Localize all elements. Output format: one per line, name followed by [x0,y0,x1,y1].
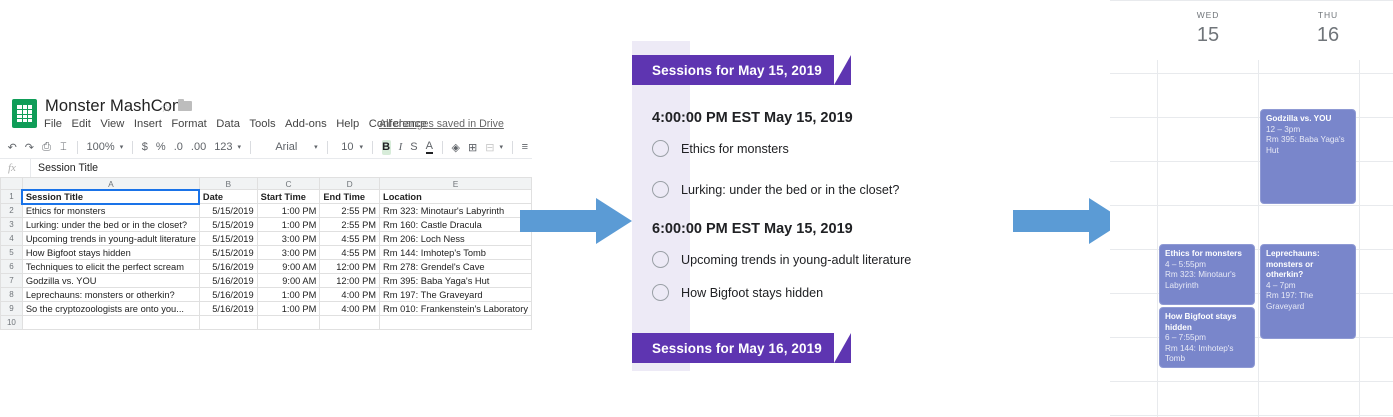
cell[interactable]: 4:55 PM [320,246,380,260]
print-icon[interactable]: ⎙ [42,140,51,155]
cell[interactable]: Techniques to elicit the perfect scream [22,260,199,274]
calendar-day-headers: WED 15 THU 16 [1110,0,1393,60]
time-slot-label-1: 4:00:00 PM EST May 15, 2019 [652,110,853,126]
event-time: 4 – 7pm [1266,281,1350,292]
cell[interactable]: Lurking: under the bed or in the closet? [22,218,199,232]
calendar-event-godzilla[interactable]: Godzilla vs. YOU 12 – 3pm Rm 395: Baba Y… [1260,109,1356,204]
ribbon-tail [834,333,851,363]
cell[interactable]: 9:00 AM [257,274,320,288]
radio-icon[interactable] [652,140,669,157]
event-time: 6 – 7:55pm [1165,333,1249,344]
menu-item-help[interactable]: Help [336,118,359,130]
section-ribbon-may-16: Sessions for May 16, 2019 [632,333,834,363]
row-number[interactable]: 1 [1,190,23,204]
formula-divider [30,159,31,178]
cell[interactable]: 4:00 PM [320,302,380,316]
cell[interactable]: 1:00 PM [257,204,320,218]
event-location: Rm 197: The Graveyard [1266,291,1350,312]
cell[interactable]: 2:55 PM [320,204,380,218]
radio-icon[interactable] [652,284,669,301]
row-number[interactable]: 5 [1,246,23,260]
cell[interactable] [257,316,320,330]
more-formats[interactable]: 123 [214,141,232,153]
row-number[interactable]: 4 [1,232,23,246]
cell[interactable]: Godzilla vs. YOU [22,274,199,288]
cell[interactable]: Rm 144: Imhotep's Tomb [380,246,532,260]
spreadsheet-grid[interactable]: A B C D E 1Session TitleDateStart TimeEn… [0,177,532,330]
formula-input[interactable]: Session Title [38,162,98,174]
cell[interactable]: 1:00 PM [257,288,320,302]
cell[interactable] [22,316,199,330]
menu-item-tools[interactable]: Tools [249,118,275,130]
font-caret-icon[interactable]: ▾ [314,143,318,151]
cell[interactable]: 12:00 PM [320,260,380,274]
cell[interactable]: Rm 395: Baba Yaga's Hut [380,274,532,288]
toolbar-divider [372,141,373,154]
ribbon-tail [834,55,851,85]
row-number[interactable]: 8 [1,288,23,302]
sheets-toolbar: ↶ ↷ ⎙ ⌶ 100% ▾ $ % .0 .00 123 ▾ Arial ▾ … [0,136,532,158]
corner-cell[interactable] [1,178,23,190]
cell[interactable]: Rm 278: Grendel's Cave [380,260,532,274]
cell[interactable]: 5/16/2019 [199,288,257,302]
session-option-label: How Bigfoot stays hidden [681,286,823,300]
font-size-select[interactable]: 10 [336,141,354,153]
undo-icon[interactable]: ↶ [8,140,17,155]
redo-icon[interactable]: ↷ [25,140,34,155]
font-size-caret-icon[interactable]: ▾ [360,143,364,151]
cell[interactable]: Date [199,190,257,204]
toolbar-divider [442,141,443,154]
table-row[interactable]: 10 [1,316,532,330]
arrow-sheets-to-form [520,198,632,244]
form-preview-panel: Sessions for May 15, 2019 4:00:00 PM EST… [632,41,962,371]
column-header-e[interactable]: E [380,178,532,190]
cell[interactable]: End Time [320,190,380,204]
radio-icon[interactable] [652,181,669,198]
calendar-event-leprechauns[interactable]: Leprechauns: monsters or otherkin? 4 – 7… [1260,244,1356,339]
zoom-level[interactable]: 100% [87,141,115,153]
event-title: Leprechauns: monsters or otherkin? [1266,249,1350,281]
day-header-thu[interactable]: THU 16 [1278,10,1378,47]
calendar-panel: WED 15 THU 16 Godzilla vs. YOU 12 – 3pm … [1110,0,1393,417]
formula-bar: fx Session Title [0,158,532,179]
save-status-link[interactable]: All changes saved in Drive [379,118,504,130]
cell[interactable]: 12:00 PM [320,274,380,288]
session-option-3[interactable]: Upcoming trends in young-adult literatur… [652,251,911,268]
cell[interactable]: Rm 206: Loch Ness [380,232,532,246]
italic-icon[interactable]: I [399,141,403,153]
column-header-d[interactable]: D [320,178,380,190]
cell[interactable]: 5/15/2019 [199,232,257,246]
currency-icon[interactable]: $ [142,141,148,153]
toolbar-divider [77,141,78,154]
session-option-1[interactable]: Ethics for monsters [652,140,789,157]
event-time: 4 – 5:55pm [1165,260,1249,271]
table-row[interactable]: 8Leprechauns: monsters or otherkin?5/16/… [1,288,532,302]
column-header-c[interactable]: C [257,178,320,190]
cell[interactable]: 5/15/2019 [199,204,257,218]
day-number-label: 15 [1158,24,1258,47]
google-sheets-panel: Monster MashCon ☆ File Edit View Insert … [0,95,532,320]
row-number[interactable]: 6 [1,260,23,274]
event-title: How Bigfoot stays hidden [1165,312,1249,333]
toolbar-divider [250,141,251,154]
ribbon-label: Sessions for May 16, 2019 [632,341,822,356]
table-row[interactable]: 1Session TitleDateStart TimeEnd TimeLoca… [1,190,532,204]
paint-format-icon[interactable]: ⌶ [59,140,68,155]
sheets-icon [12,99,37,128]
cell[interactable]: Rm 010: Frankenstein's Laboratory [380,302,532,316]
merge-caret-icon[interactable]: ▾ [499,143,503,151]
zoom-caret-icon[interactable]: ▾ [120,143,124,151]
font-family-select[interactable]: Arial [260,141,309,153]
increase-decimal-icon[interactable]: .00 [191,141,206,153]
decrease-decimal-icon[interactable]: .0 [174,141,183,153]
cell[interactable]: Start Time [257,190,320,204]
menu-item-view[interactable]: View [100,118,124,130]
session-option-4[interactable]: How Bigfoot stays hidden [652,284,823,301]
table-row[interactable]: 5How Bigfoot stays hidden5/15/20193:00 P… [1,246,532,260]
form-background-band [632,41,690,371]
menu-item-format[interactable]: Format [171,118,206,130]
percent-icon[interactable]: % [156,141,166,153]
cell[interactable]: 3:00 PM [257,232,320,246]
cell[interactable]: Upcoming trends in young-adult literatur… [22,232,199,246]
cell[interactable]: 4:00 PM [320,288,380,302]
cell[interactable]: 5/16/2019 [199,302,257,316]
cell[interactable]: Session Title [22,190,199,204]
cell[interactable] [380,316,532,330]
strikethrough-icon[interactable]: S [410,141,417,153]
day-of-week-label: THU [1278,10,1378,20]
session-option-label: Upcoming trends in young-adult literatur… [681,253,911,267]
fill-color-icon[interactable]: ◈ [452,141,460,154]
form-card [690,41,962,371]
menu-item-file[interactable]: File [44,118,62,130]
formats-caret-icon[interactable]: ▾ [238,143,242,151]
column-header-a[interactable]: A [22,178,199,190]
cell[interactable]: 5/16/2019 [199,260,257,274]
event-location: Rm 144: Imhotep's Tomb [1165,344,1249,365]
fx-icon: fx [8,162,16,174]
arrow-form-to-calendar [1013,198,1125,244]
cell[interactable]: 5/16/2019 [199,274,257,288]
table-row[interactable]: 2Ethics for monsters5/15/20191:00 PM2:55… [1,204,532,218]
event-time: 12 – 3pm [1266,125,1350,136]
cell[interactable] [199,316,257,330]
cell[interactable]: 5/15/2019 [199,218,257,232]
ribbon-label: Sessions for May 15, 2019 [632,63,822,78]
cell[interactable]: Rm 160: Castle Dracula [380,218,532,232]
column-header-b[interactable]: B [199,178,257,190]
calendar-grid[interactable]: Godzilla vs. YOU 12 – 3pm Rm 395: Baba Y… [1110,60,1393,417]
cell[interactable]: Leprechauns: monsters or otherkin? [22,288,199,302]
menu-item-data[interactable]: Data [216,118,240,130]
table-row[interactable]: 4Upcoming trends in young-adult literatu… [1,232,532,246]
bold-icon[interactable]: B [382,140,391,155]
toolbar-divider [327,141,328,154]
row-number[interactable]: 2 [1,204,23,218]
cell[interactable]: So the cryptozoologists are onto you... [22,302,199,316]
folder-icon[interactable] [178,101,192,111]
radio-icon[interactable] [652,251,669,268]
session-option-2[interactable]: Lurking: under the bed or in the closet? [652,181,899,198]
sheets-titlebar: Monster MashCon ☆ File Edit View Insert … [0,95,532,135]
toolbar-divider [132,141,133,154]
cell[interactable]: Rm 323: Minotaur's Labyrinth [380,204,532,218]
event-title: Godzilla vs. YOU [1266,114,1350,125]
row-number[interactable]: 10 [1,316,23,330]
table-row[interactable]: 7Godzilla vs. YOU5/16/20199:00 AM12:00 P… [1,274,532,288]
toolbar-divider [512,141,513,154]
cell[interactable] [320,316,380,330]
cell[interactable]: 9:00 AM [257,260,320,274]
calendar-event-ethics[interactable]: Ethics for monsters 4 – 5:55pm Rm 323: M… [1159,244,1255,305]
event-location: Rm 323: Minotaur's Labyrinth [1165,270,1249,291]
session-option-label: Ethics for monsters [681,142,789,156]
star-icon[interactable]: ☆ [160,100,172,116]
text-color-icon[interactable]: A [426,141,433,154]
cell[interactable]: 1:00 PM [257,218,320,232]
row-number[interactable]: 7 [1,274,23,288]
cell[interactable]: 4:55 PM [320,232,380,246]
day-of-week-label: WED [1158,10,1258,20]
menu-item-addons[interactable]: Add-ons [285,118,327,130]
event-title: Ethics for monsters [1165,249,1249,260]
column-header-row: A B C D E [1,178,532,190]
cell[interactable]: 3:00 PM [257,246,320,260]
cell[interactable]: Location [380,190,532,204]
event-location: Rm 395: Baba Yaga's Hut [1266,135,1350,156]
calendar-event-bigfoot[interactable]: How Bigfoot stays hidden 6 – 7:55pm Rm 1… [1159,307,1255,368]
menu-item-edit[interactable]: Edit [72,118,91,130]
menu-bar: File Edit View Insert Format Data Tools … [44,118,427,130]
cell[interactable]: 2:55 PM [320,218,380,232]
session-option-label: Lurking: under the bed or in the closet? [681,183,899,197]
section-ribbon-may-15: Sessions for May 15, 2019 [632,55,834,85]
borders-icon[interactable]: ⊞ [468,141,477,154]
day-number-label: 16 [1278,24,1378,47]
cell[interactable]: Ethics for monsters [22,204,199,218]
merge-cells-icon[interactable]: ⊟ [485,141,494,154]
align-icon[interactable]: ≡ [522,141,528,153]
table-row[interactable]: 6Techniques to elicit the perfect scream… [1,260,532,274]
cell[interactable]: Rm 197: The Graveyard [380,288,532,302]
row-number[interactable]: 9 [1,302,23,316]
table-row[interactable]: 9So the cryptozoologists are onto you...… [1,302,532,316]
cell[interactable]: 5/15/2019 [199,246,257,260]
cell[interactable]: How Bigfoot stays hidden [22,246,199,260]
day-header-wed[interactable]: WED 15 [1158,10,1258,47]
row-number[interactable]: 3 [1,218,23,232]
table-row[interactable]: 3Lurking: under the bed or in the closet… [1,218,532,232]
time-slot-label-2: 6:00:00 PM EST May 15, 2019 [652,221,853,237]
cell[interactable]: 1:00 PM [257,302,320,316]
menu-item-insert[interactable]: Insert [134,118,162,130]
